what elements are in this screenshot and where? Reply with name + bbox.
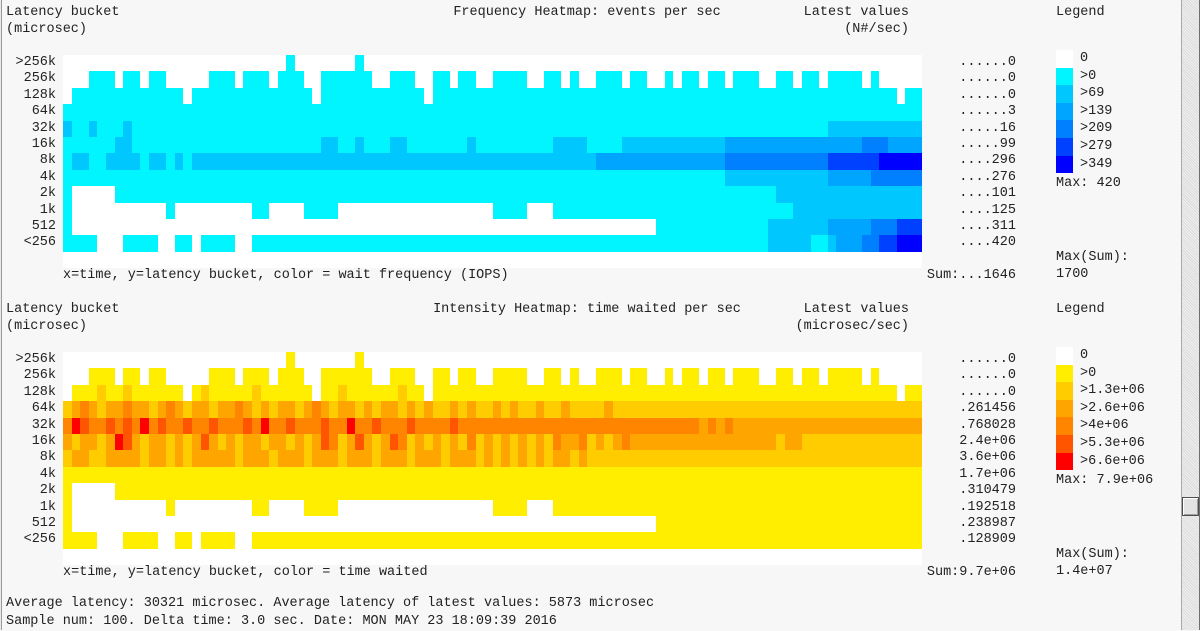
heatmap-cell — [647, 186, 656, 202]
heatmap-cell — [501, 532, 510, 548]
heatmap-cell — [166, 516, 175, 532]
heatmap-cell — [845, 418, 854, 434]
heatmap-cell — [871, 55, 880, 71]
heatmap-cell — [338, 418, 347, 434]
heatmap-cell — [845, 500, 854, 516]
heatmap-cell — [261, 352, 270, 368]
heatmap-cell — [398, 219, 407, 235]
heatmap-cell — [501, 55, 510, 71]
heatmap-cell — [897, 170, 906, 186]
bucket-label: 16k — [32, 434, 56, 450]
heatmap-cell — [579, 352, 588, 368]
heatmap-cell — [166, 219, 175, 235]
heatmap-cell — [862, 55, 871, 71]
heatmap-cell — [665, 385, 674, 401]
heatmap-cell — [622, 450, 631, 466]
heatmap-cell — [854, 532, 863, 548]
heatmap-cell — [218, 532, 227, 548]
heatmap-cell — [579, 71, 588, 87]
heatmap-cell — [613, 450, 622, 466]
heatmap-cell — [879, 434, 888, 450]
heatmap-cell — [321, 418, 330, 434]
heatmap-cell — [407, 516, 416, 532]
heatmap-cell — [166, 401, 175, 417]
heatmap-cell — [579, 532, 588, 548]
heatmap-cell — [622, 153, 631, 169]
heatmap-cell — [364, 104, 373, 120]
bucket-label: 16k — [32, 137, 56, 153]
heatmap-cell — [604, 434, 613, 450]
heatmap-cell — [115, 434, 124, 450]
heatmap-cell — [553, 352, 562, 368]
heatmap-cell — [553, 483, 562, 499]
heatmap-cell — [879, 121, 888, 137]
heatmap-cell — [295, 532, 304, 548]
heatmap-cell — [793, 186, 802, 202]
heatmap-cell — [793, 385, 802, 401]
heatmap-cell — [759, 401, 768, 417]
heatmap-cell — [476, 434, 485, 450]
heatmap-cell — [132, 121, 141, 137]
heatmap-cell — [613, 186, 622, 202]
heatmap-cell — [656, 88, 665, 104]
heatmap-cell — [140, 121, 149, 137]
heatmap-cell — [561, 88, 570, 104]
heatmap-cell — [433, 418, 442, 434]
heatmap-cell — [209, 516, 218, 532]
heatmap-cell — [819, 88, 828, 104]
heatmap-cell — [759, 418, 768, 434]
heatmap-cell — [312, 532, 321, 548]
heatmap-cell — [329, 235, 338, 251]
heatmap-cell — [115, 385, 124, 401]
heatmap-cell — [106, 532, 115, 548]
heatmap-cell — [407, 137, 416, 153]
intensity-heatmap-grid[interactable] — [63, 352, 922, 565]
heatmap-cell — [476, 401, 485, 417]
heatmap-cell — [123, 368, 132, 384]
heatmap-cell — [372, 483, 381, 499]
heatmap-cell — [553, 170, 562, 186]
heatmap-cell — [235, 532, 244, 548]
heatmap-cell — [536, 235, 545, 251]
heatmap-cell — [484, 450, 493, 466]
heatmap-cell — [536, 467, 545, 483]
frequency-sum: Sum:...1646 — [700, 268, 1016, 283]
heatmap-cell — [183, 55, 192, 71]
heatmap-cell — [518, 153, 527, 169]
heatmap-cell — [897, 235, 906, 251]
heatmap-cell — [63, 483, 72, 499]
heatmap-cell — [183, 104, 192, 120]
bucket-label: <256 — [24, 532, 56, 548]
heatmap-cell — [132, 153, 141, 169]
heatmap-cell — [381, 516, 390, 532]
heatmap-cell — [390, 483, 399, 499]
scrollbar-thumb[interactable] — [1182, 497, 1199, 516]
heatmap-cell — [484, 219, 493, 235]
heatmap-cell — [845, 434, 854, 450]
heatmap-cell — [192, 385, 201, 401]
heatmap-cell — [733, 219, 742, 235]
heatmap-cell — [63, 153, 72, 169]
heatmap-cell — [467, 153, 476, 169]
heatmap-cell — [553, 137, 562, 153]
heatmap-cell — [536, 401, 545, 417]
heatmap-cell — [768, 500, 777, 516]
heatmap-cell — [914, 137, 923, 153]
heatmap-cell — [690, 418, 699, 434]
heatmap-cell — [433, 170, 442, 186]
latest-value: ....296 — [959, 153, 1016, 169]
heatmap-cell — [759, 385, 768, 401]
heatmap-cell — [613, 483, 622, 499]
heatmap-cell — [441, 500, 450, 516]
heatmap-cell — [364, 483, 373, 499]
heatmap-cell — [733, 104, 742, 120]
heatmap-cell — [97, 467, 106, 483]
heatmap-cell — [725, 401, 734, 417]
heatmap-cell — [321, 235, 330, 251]
heatmap-cell — [570, 467, 579, 483]
heatmap-cell — [312, 104, 321, 120]
heatmap-cell — [115, 532, 124, 548]
heatmap-cell — [149, 203, 158, 219]
heatmap-cell — [312, 153, 321, 169]
heatmap-cell — [905, 532, 914, 548]
heatmap-cell — [613, 104, 622, 120]
heatmap-cell — [656, 203, 665, 219]
heatmap-cell — [355, 385, 364, 401]
heatmap-cell — [175, 483, 184, 499]
heatmap-cell — [218, 516, 227, 532]
heatmap-cell — [553, 516, 562, 532]
heatmap-cell — [89, 467, 98, 483]
heatmap-cell — [63, 71, 72, 87]
heatmap-cell — [819, 450, 828, 466]
heatmap-cell — [149, 368, 158, 384]
heatmap-cell — [252, 235, 261, 251]
heatmap-cell — [905, 55, 914, 71]
heatmap-cell — [132, 418, 141, 434]
heatmap-cell — [845, 153, 854, 169]
heatmap-cell — [476, 418, 485, 434]
heatmap-cell — [175, 401, 184, 417]
heatmap-cell — [183, 352, 192, 368]
heatmap-cell — [536, 186, 545, 202]
heatmap-cell — [793, 235, 802, 251]
heatmap-cell — [295, 121, 304, 137]
heatmap-cell — [123, 467, 132, 483]
heatmap-cell — [570, 500, 579, 516]
heatmap-cell — [261, 483, 270, 499]
heatmap-cell — [793, 170, 802, 186]
heatmap-cell — [372, 186, 381, 202]
heatmap-cell — [218, 55, 227, 71]
heatmap-cell — [415, 500, 424, 516]
heatmap-cell — [828, 203, 837, 219]
heatmap-cell — [493, 385, 502, 401]
heatmap-cell — [115, 153, 124, 169]
heatmap-cell — [252, 467, 261, 483]
heatmap-cell — [321, 203, 330, 219]
heatmap-cell — [235, 203, 244, 219]
heatmap-cell — [759, 467, 768, 483]
heatmap-cell — [708, 137, 717, 153]
heatmap-cell — [604, 385, 613, 401]
heatmap-row — [63, 500, 922, 516]
heatmap-cell — [115, 401, 124, 417]
heatmap-cell — [811, 352, 820, 368]
heatmap-cell — [854, 55, 863, 71]
legend-label: >69 — [1080, 85, 1112, 103]
heatmap-cell — [544, 55, 553, 71]
heatmap-cell — [381, 483, 390, 499]
heatmap-cell — [647, 418, 656, 434]
legend-title: Legend — [1056, 5, 1105, 20]
heatmap-cell — [587, 532, 596, 548]
heatmap-cell — [295, 170, 304, 186]
heatmap-cell — [226, 385, 235, 401]
heatmap-cell — [106, 401, 115, 417]
heatmap-cell — [682, 418, 691, 434]
heatmap-cell — [871, 153, 880, 169]
heatmap-cell — [235, 153, 244, 169]
heatmap-cell — [235, 88, 244, 104]
heatmap-cell — [433, 368, 442, 384]
heatmap-cell — [845, 88, 854, 104]
heatmap-cell — [785, 104, 794, 120]
heatmap-cell — [811, 368, 820, 384]
heatmap-cell — [398, 203, 407, 219]
heatmap-cell — [682, 450, 691, 466]
heatmap-cell — [450, 434, 459, 450]
latest-value: ....125 — [959, 203, 1016, 219]
heatmap-cell — [570, 153, 579, 169]
heatmap-cell — [682, 121, 691, 137]
heatmap-cell — [450, 235, 459, 251]
heatmap-cell — [338, 467, 347, 483]
heatmap-cell — [776, 186, 785, 202]
heatmap-cell — [226, 88, 235, 104]
vertical-scrollbar[interactable] — [1174, 0, 1200, 630]
heatmap-cell — [201, 55, 210, 71]
heatmap-cell — [828, 235, 837, 251]
legend-label: >5.3e+06 — [1080, 435, 1145, 453]
heatmap-cell — [278, 418, 287, 434]
heatmap-cell — [347, 71, 356, 87]
heatmap-cell — [647, 137, 656, 153]
heatmap-cell — [793, 467, 802, 483]
latest-value: .261456 — [959, 401, 1016, 417]
heatmap-cell — [802, 88, 811, 104]
heatmap-cell — [175, 385, 184, 401]
heatmap-cell — [733, 434, 742, 450]
heatmap-cell — [80, 385, 89, 401]
heatmap-cell — [226, 203, 235, 219]
heatmap-cell — [879, 235, 888, 251]
heatmap-cell — [261, 401, 270, 417]
heatmap-cell — [364, 121, 373, 137]
heatmap-cell — [544, 186, 553, 202]
heatmap-cell — [587, 219, 596, 235]
heatmap-cell — [544, 170, 553, 186]
heatmap-cell — [561, 170, 570, 186]
heatmap-cell — [398, 467, 407, 483]
heatmap-cell — [785, 516, 794, 532]
heatmap-cell — [914, 434, 923, 450]
legend-label: >4e+06 — [1080, 417, 1145, 435]
heatmap-cell — [398, 88, 407, 104]
heatmap-cell — [622, 500, 631, 516]
heatmap-cell — [613, 418, 622, 434]
heatmap-cell — [321, 104, 330, 120]
heatmap-cell — [97, 55, 106, 71]
heatmap-cell — [286, 88, 295, 104]
bucket-label: <256 — [24, 235, 56, 251]
heatmap-cell — [355, 516, 364, 532]
heatmap-cell — [862, 516, 871, 532]
heatmap-cell — [751, 88, 760, 104]
heatmap-cell — [802, 385, 811, 401]
frequency-heatmap-grid[interactable] — [63, 55, 922, 268]
heatmap-cell — [218, 88, 227, 104]
heatmap-cell — [261, 368, 270, 384]
footer-sample-info: Sample num: 100. Delta time: 3.0 sec. Da… — [6, 613, 1156, 631]
heatmap-cell — [768, 55, 777, 71]
heatmap-cell — [665, 88, 674, 104]
heatmap-cell — [252, 385, 261, 401]
heatmap-cell — [536, 104, 545, 120]
heatmap-cell — [458, 137, 467, 153]
heatmap-cell — [89, 121, 98, 137]
heatmap-cell — [286, 516, 295, 532]
heatmap-cell — [656, 368, 665, 384]
heatmap-cell — [630, 483, 639, 499]
heatmap-cell — [776, 532, 785, 548]
heatmap-cell — [682, 516, 691, 532]
heatmap-cell — [836, 352, 845, 368]
heatmap-cell — [467, 235, 476, 251]
heatmap-cell — [140, 368, 149, 384]
heatmap-cell — [407, 352, 416, 368]
heatmap-cell — [286, 71, 295, 87]
heatmap-cell — [570, 71, 579, 87]
heatmap-cell — [278, 153, 287, 169]
heatmap-cell — [716, 235, 725, 251]
heatmap-cell — [596, 153, 605, 169]
heatmap-cell — [183, 71, 192, 87]
heatmap-cell — [639, 88, 648, 104]
heatmap-cell — [123, 104, 132, 120]
heatmap-cell — [140, 153, 149, 169]
heatmap-cell — [699, 434, 708, 450]
panel-title: Intensity Heatmap: time waited per sec — [0, 302, 1174, 317]
heatmap-cell — [501, 235, 510, 251]
heatmap-cell — [226, 516, 235, 532]
heatmap-cell — [304, 368, 313, 384]
heatmap-cell — [879, 153, 888, 169]
heatmap-cell — [441, 170, 450, 186]
heatmap-application: Latency bucket (microsec) Frequency Heat… — [0, 0, 1200, 630]
legend-labels: 0>0>69>139>209>279>349 — [1080, 50, 1112, 173]
heatmap-cell — [845, 235, 854, 251]
scrollbar-trough[interactable] — [1181, 0, 1200, 630]
heatmap-cell — [587, 55, 596, 71]
heatmap-cell — [149, 137, 158, 153]
heatmap-cell — [905, 186, 914, 202]
heatmap-cell — [166, 368, 175, 384]
heatmap-cell — [381, 137, 390, 153]
heatmap-cell — [89, 203, 98, 219]
heatmap-cell — [321, 121, 330, 137]
heatmap-cell — [570, 532, 579, 548]
heatmap-cell — [811, 434, 820, 450]
heatmap-cell — [879, 352, 888, 368]
heatmap-cell — [183, 88, 192, 104]
heatmap-cell — [527, 516, 536, 532]
heatmap-cell — [871, 450, 880, 466]
heatmap-cell — [854, 450, 863, 466]
heatmap-cell — [768, 235, 777, 251]
heatmap-cell — [527, 467, 536, 483]
heatmap-cell — [905, 516, 914, 532]
heatmap-cell — [372, 121, 381, 137]
heatmap-cell — [209, 385, 218, 401]
heatmap-cell — [793, 352, 802, 368]
heatmap-cell — [793, 219, 802, 235]
heatmap-cell — [604, 186, 613, 202]
heatmap-cell — [888, 352, 897, 368]
heatmap-cell — [639, 352, 648, 368]
heatmap-cell — [183, 153, 192, 169]
heatmap-cell — [914, 170, 923, 186]
heatmap-cell — [261, 235, 270, 251]
heatmap-cell — [639, 186, 648, 202]
heatmap-cell — [518, 368, 527, 384]
heatmap-cell — [295, 516, 304, 532]
heatmap-cell — [278, 500, 287, 516]
heatmap-cell — [897, 219, 906, 235]
heatmap-cell — [493, 467, 502, 483]
heatmap-cell — [218, 104, 227, 120]
latest-value: ......0 — [959, 368, 1016, 384]
heatmap-cell — [235, 235, 244, 251]
heatmap-cell — [149, 121, 158, 137]
heatmap-cell — [286, 483, 295, 499]
heatmap-cell — [811, 88, 820, 104]
heatmap-cell — [862, 104, 871, 120]
heatmap-cell — [372, 104, 381, 120]
heatmap-cell — [424, 186, 433, 202]
heatmap-cell — [622, 418, 631, 434]
heatmap-cell — [347, 203, 356, 219]
heatmap-cell — [622, 88, 631, 104]
heatmap-cell — [510, 516, 519, 532]
heatmap-cell — [639, 368, 648, 384]
heatmap-cell — [587, 121, 596, 137]
legend-swatch — [1056, 382, 1073, 400]
heatmap-cell — [596, 368, 605, 384]
legend-label: 0 — [1080, 347, 1145, 365]
heatmap-cell — [123, 352, 132, 368]
heatmap-cell — [914, 153, 923, 169]
bucket-label: 32k — [32, 121, 56, 137]
heatmap-cell — [192, 203, 201, 219]
heatmap-cell — [312, 401, 321, 417]
heatmap-cell — [381, 219, 390, 235]
heatmap-cell — [639, 500, 648, 516]
